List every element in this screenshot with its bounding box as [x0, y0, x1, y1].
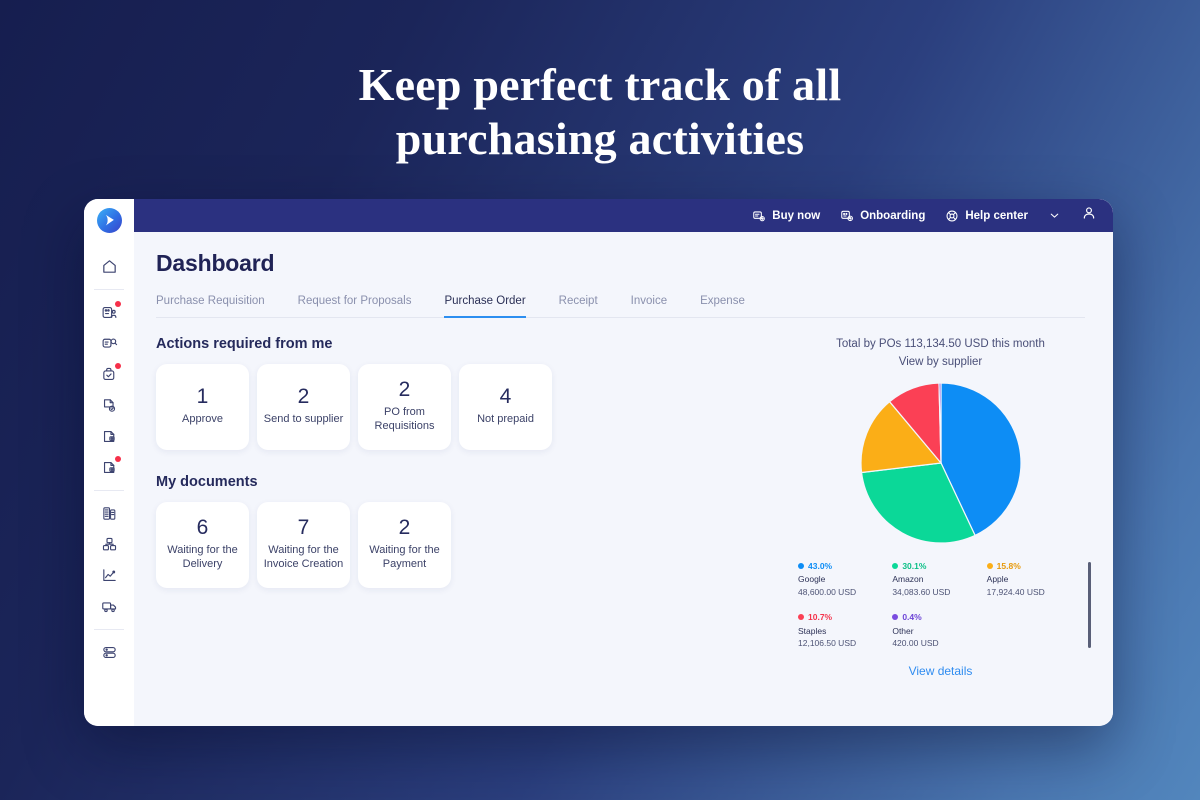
sidebar-item-catalog[interactable] — [92, 498, 126, 529]
home-icon — [101, 258, 118, 275]
sidebar-item-invoice[interactable] — [92, 421, 126, 452]
stat-count: 2 — [399, 378, 411, 401]
legend-grid: 43.0% Google 48,600.00 USD 30.1% — [790, 560, 1077, 651]
legend-amount: 12,106.50 USD — [798, 637, 888, 650]
action-card-send-to-supplier[interactable]: 2 Send to supplier — [257, 364, 350, 450]
legend-percent: 15.8% — [997, 560, 1021, 573]
legend-bullet-icon — [987, 563, 993, 569]
sidebar — [84, 199, 134, 726]
receipt-doc-check-icon — [101, 397, 118, 414]
view-details-link[interactable]: View details — [790, 664, 1091, 678]
document-card-waiting-delivery[interactable]: 6 Waiting for the Delivery — [156, 502, 249, 588]
legend-amount: 48,600.00 USD — [798, 586, 888, 599]
dashboard-columns: Actions required from me 1 Approve 2 Sen… — [156, 318, 1091, 678]
pie-chart — [790, 382, 1091, 544]
sidebar-divider-2 — [94, 490, 124, 491]
stat-label: PO from Requisitions — [364, 406, 445, 434]
action-card-not-prepaid[interactable]: 4 Not prepaid — [459, 364, 552, 450]
stat-count: 4 — [500, 385, 512, 408]
tab-receipt[interactable]: Receipt — [559, 295, 598, 318]
legend-amount: 17,924.40 USD — [987, 586, 1077, 599]
database-icon — [101, 644, 118, 661]
tab-request-for-proposals[interactable]: Request for Proposals — [298, 295, 412, 318]
sidebar-item-shipping[interactable] — [92, 591, 126, 622]
legend-top: 10.7% — [798, 611, 888, 624]
legend-name: Apple — [987, 573, 1077, 586]
notification-badge — [115, 456, 121, 462]
chart-view-by-label: View by supplier — [790, 354, 1091, 372]
sidebar-divider-1 — [94, 289, 124, 290]
app-pane: Buy now Onboarding — [134, 199, 1113, 726]
documents-card-row: 6 Waiting for the Delivery 7 Waiting for… — [156, 502, 776, 588]
actions-section-title: Actions required from me — [156, 336, 776, 352]
user-account-button[interactable] — [1081, 205, 1097, 226]
sidebar-item-receipt[interactable] — [92, 390, 126, 421]
legend-percent: 0.4% — [902, 611, 921, 624]
legend-name: Other — [892, 625, 982, 638]
hero-line-2: purchasing activities — [0, 112, 1200, 166]
dashboard-right-column: Total by POs 113,134.50 USD this month V… — [776, 336, 1091, 678]
page-title: Dashboard — [156, 250, 1091, 277]
sidebar-item-expense[interactable] — [92, 452, 126, 483]
tab-purchase-order[interactable]: Purchase Order — [444, 295, 525, 318]
legend-item-apple[interactable]: 15.8% Apple 17,924.40 USD — [987, 560, 1077, 599]
sidebar-item-request-for-proposals[interactable] — [92, 328, 126, 359]
document-card-waiting-invoice-creation[interactable]: 7 Waiting for the Invoice Creation — [257, 502, 350, 588]
tab-purchase-requisition[interactable]: Purchase Requisition — [156, 295, 265, 318]
help-center-icon — [945, 209, 959, 223]
stat-count: 2 — [399, 516, 411, 539]
notification-badge — [115, 301, 121, 307]
catalog-icon — [101, 505, 118, 522]
buy-now-button[interactable]: Buy now — [752, 209, 820, 223]
onboarding-button[interactable]: Onboarding — [840, 209, 925, 223]
sidebar-item-home[interactable] — [92, 251, 126, 282]
sidebar-item-database[interactable] — [92, 637, 126, 668]
legend-amount: 34,083.60 USD — [892, 586, 982, 599]
legend-item-amazon[interactable]: 30.1% Amazon 34,083.60 USD — [892, 560, 982, 599]
buy-now-label: Buy now — [772, 210, 820, 222]
legend-top: 43.0% — [798, 560, 888, 573]
stat-label: Send to supplier — [264, 413, 344, 427]
document-card-waiting-payment[interactable]: 2 Waiting for the Payment — [358, 502, 451, 588]
stat-label: Approve — [182, 413, 223, 427]
main-content: Dashboard Purchase Requisition Request f… — [134, 232, 1113, 726]
legend-percent: 30.1% — [902, 560, 926, 573]
legend-name: Staples — [798, 625, 888, 638]
stat-count: 1 — [197, 385, 209, 408]
legend-amount: 420.00 USD — [892, 637, 982, 650]
legend-percent: 43.0% — [808, 560, 832, 573]
help-center-label: Help center — [965, 210, 1028, 222]
sidebar-item-inventory[interactable] — [92, 529, 126, 560]
purchase-order-check-icon — [101, 366, 118, 383]
legend-bullet-icon — [892, 563, 898, 569]
analytics-icon — [101, 567, 118, 584]
sidebar-divider-3 — [94, 629, 124, 630]
chevron-down-icon[interactable] — [1048, 209, 1061, 222]
rfp-search-icon — [101, 335, 118, 352]
expense-icon — [101, 459, 118, 476]
legend-bullet-icon — [798, 614, 804, 620]
stat-count: 6 — [197, 516, 209, 539]
legend-item-google[interactable]: 43.0% Google 48,600.00 USD — [798, 560, 888, 599]
dashboard-left-column: Actions required from me 1 Approve 2 Sen… — [156, 336, 776, 678]
chart-total-line: Total by POs 113,134.50 USD this month — [836, 338, 1045, 350]
stat-count: 7 — [298, 516, 310, 539]
legend-bullet-icon — [892, 614, 898, 620]
sidebar-item-analytics[interactable] — [92, 560, 126, 591]
notification-badge — [115, 363, 121, 369]
legend-percent: 10.7% — [808, 611, 832, 624]
hero-line-1: Keep perfect track of all — [359, 59, 842, 110]
sidebar-item-purchase-order[interactable] — [92, 359, 126, 390]
app-window: Buy now Onboarding — [84, 199, 1113, 726]
onboarding-icon — [840, 209, 854, 223]
action-card-po-from-requisitions[interactable]: 2 PO from Requisitions — [358, 364, 451, 450]
requisition-user-icon — [101, 304, 118, 321]
user-icon — [1081, 205, 1097, 226]
documents-section-title: My documents — [156, 474, 776, 490]
inventory-icon — [101, 536, 118, 553]
tab-expense[interactable]: Expense — [700, 295, 745, 318]
tab-bar: Purchase Requisition Request for Proposa… — [156, 295, 1085, 318]
action-card-approve[interactable]: 1 Approve — [156, 364, 249, 450]
legend-name: Google — [798, 573, 888, 586]
legend-top: 0.4% — [892, 611, 982, 624]
legend-scrollbar[interactable] — [1088, 562, 1091, 648]
hero-headline: Keep perfect track of all purchasing act… — [0, 58, 1200, 167]
app-logo-icon[interactable] — [97, 208, 122, 233]
sidebar-item-purchase-requisition[interactable] — [92, 297, 126, 328]
chart-header: Total by POs 113,134.50 USD this month V… — [790, 336, 1091, 372]
documents-section: My documents 6 Waiting for the Delivery … — [156, 474, 776, 588]
stat-label: Waiting for the Payment — [364, 544, 445, 572]
legend-top: 30.1% — [892, 560, 982, 573]
legend-item-staples[interactable]: 10.7% Staples 12,106.50 USD — [798, 611, 888, 650]
stat-label: Not prepaid — [477, 413, 534, 427]
shipping-truck-icon — [101, 598, 118, 615]
chart-legend: 43.0% Google 48,600.00 USD 30.1% — [790, 560, 1091, 651]
onboarding-label: Onboarding — [860, 210, 925, 222]
tab-invoice[interactable]: Invoice — [631, 295, 667, 318]
pie-chart-svg[interactable] — [860, 382, 1022, 544]
legend-top: 15.8% — [987, 560, 1077, 573]
legend-item-other[interactable]: 0.4% Other 420.00 USD — [892, 611, 982, 650]
stat-count: 2 — [298, 385, 310, 408]
actions-card-row: 1 Approve 2 Send to supplier 2 PO from R… — [156, 364, 776, 450]
top-navigation-bar: Buy now Onboarding — [134, 199, 1113, 232]
invoice-icon — [101, 428, 118, 445]
legend-bullet-icon — [798, 563, 804, 569]
help-center-button[interactable]: Help center — [945, 209, 1028, 223]
stat-label: Waiting for the Invoice Creation — [263, 544, 344, 572]
legend-name: Amazon — [892, 573, 982, 586]
stat-label: Waiting for the Delivery — [162, 544, 243, 572]
buy-now-icon — [752, 209, 766, 223]
